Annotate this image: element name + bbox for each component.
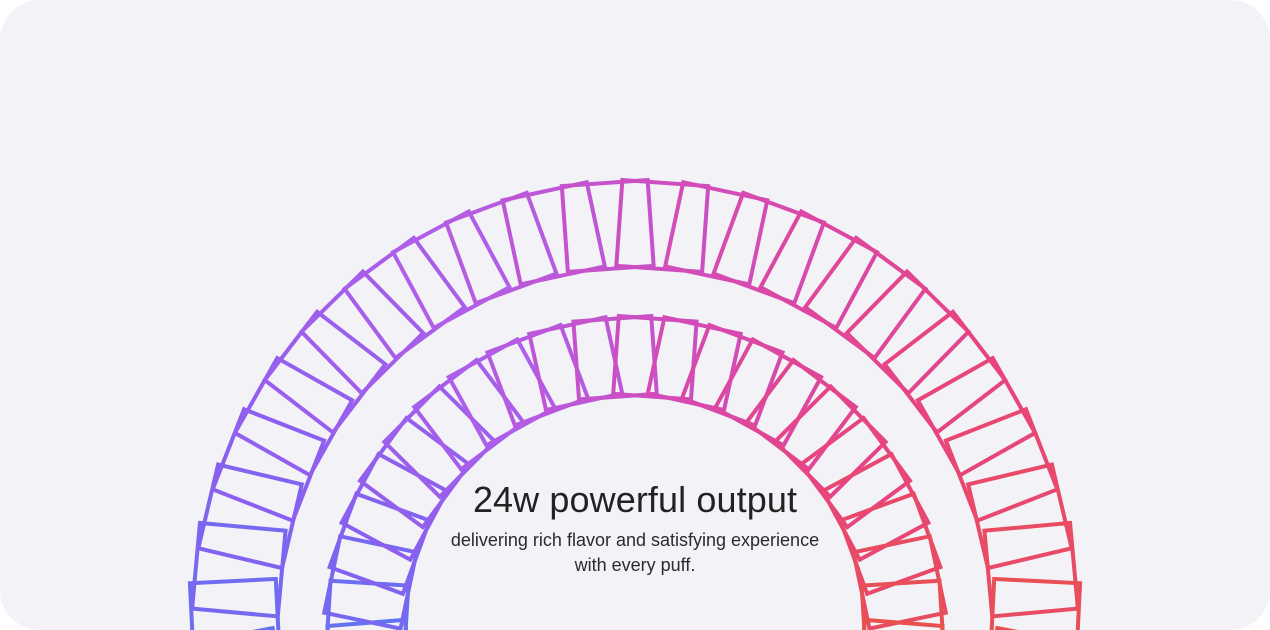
promo-banner: 24w powerful output delivering rich flav… [0, 0, 1270, 630]
subtitle-line-2: with every puff. [0, 553, 1270, 578]
decoration-square [847, 272, 969, 394]
decoration-square [414, 360, 523, 469]
decoration-square [862, 581, 945, 630]
decoration-square [990, 579, 1080, 630]
decoration-square [747, 360, 856, 469]
text-block: 24w powerful output delivering rich flav… [0, 478, 1270, 578]
decoration-square [761, 211, 877, 327]
decoration-square [682, 325, 782, 425]
inner-ring [324, 316, 946, 630]
decoration-square [190, 579, 280, 630]
decoration-square [326, 581, 409, 630]
page-title: 24w powerful output [0, 478, 1270, 522]
decoration-square [265, 312, 386, 433]
decoration-square [648, 317, 741, 410]
subtitle-line-1: delivering rich flavor and satisfying ex… [0, 528, 1270, 553]
decoration-square [562, 180, 654, 272]
decoration-square [302, 272, 424, 394]
subtitle: delivering rich flavor and satisfying ex… [0, 528, 1270, 578]
decoration-square [488, 325, 588, 425]
decoration-square [345, 238, 465, 358]
decoration-square [665, 182, 767, 284]
decoration-square [328, 620, 412, 630]
decoration-square [235, 358, 352, 475]
decoration-square [529, 317, 622, 410]
decoration-square [715, 339, 821, 445]
decoration-square [918, 358, 1035, 475]
decoration-square [573, 316, 656, 399]
decoration-square [858, 620, 942, 630]
decoration-square [446, 193, 556, 303]
decoration-square [885, 312, 1006, 433]
decoration-square [393, 211, 509, 327]
decoration-square [449, 339, 555, 445]
decoration-square [503, 182, 605, 284]
decoration-square [616, 180, 708, 272]
decoration-square [714, 193, 824, 303]
decoration-square [805, 238, 925, 358]
decoration-square [613, 316, 696, 399]
